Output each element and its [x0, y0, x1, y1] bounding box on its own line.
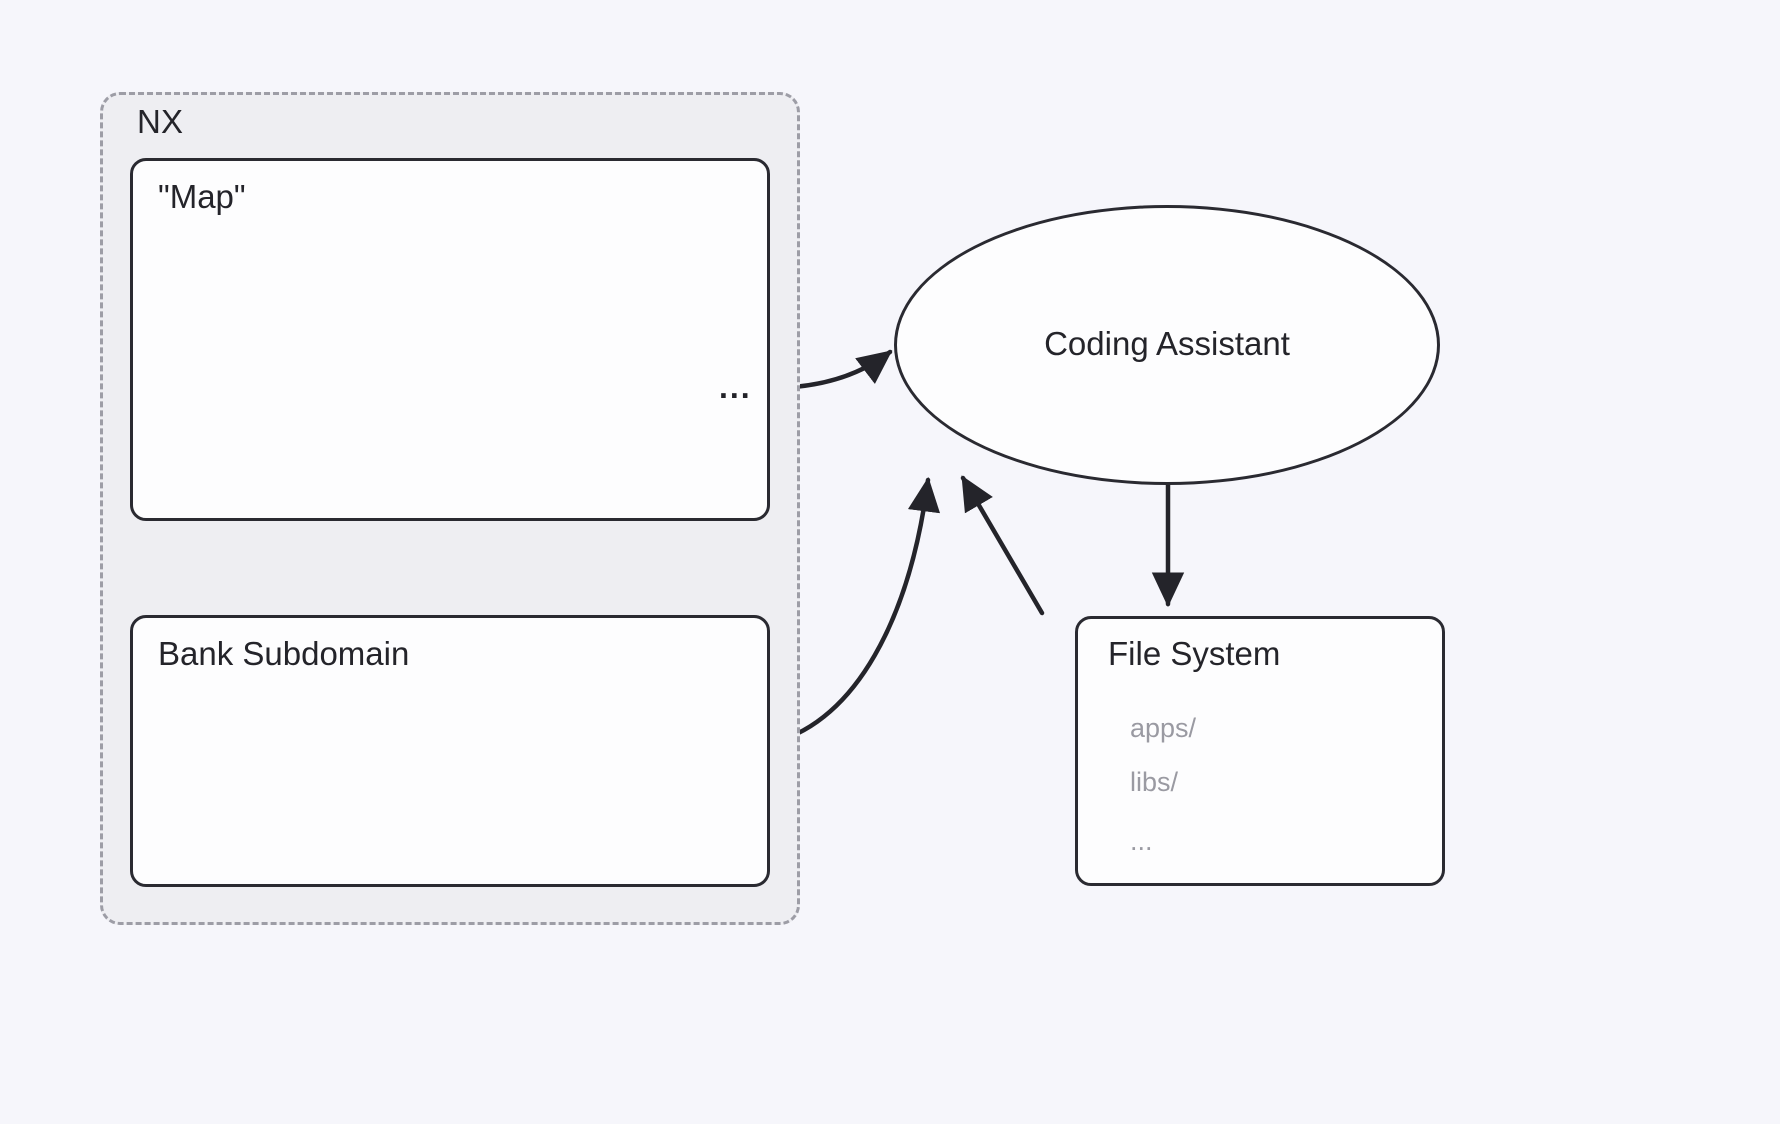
nx-container-label: NX [137, 103, 183, 141]
arrow-filesystem-to-assistant [963, 478, 1042, 613]
file-system-title: File System [1108, 635, 1280, 673]
coding-assistant-label: Coding Assistant [894, 325, 1440, 363]
file-system-entry: apps/ [1130, 713, 1196, 744]
bank-subdomain-title: Bank Subdomain [158, 635, 409, 673]
map-ellipsis-label: ... [719, 369, 752, 406]
map-card-title: "Map" [158, 178, 246, 216]
file-system-entry: libs/ [1130, 767, 1178, 798]
file-system-entry: ... [1130, 826, 1153, 857]
